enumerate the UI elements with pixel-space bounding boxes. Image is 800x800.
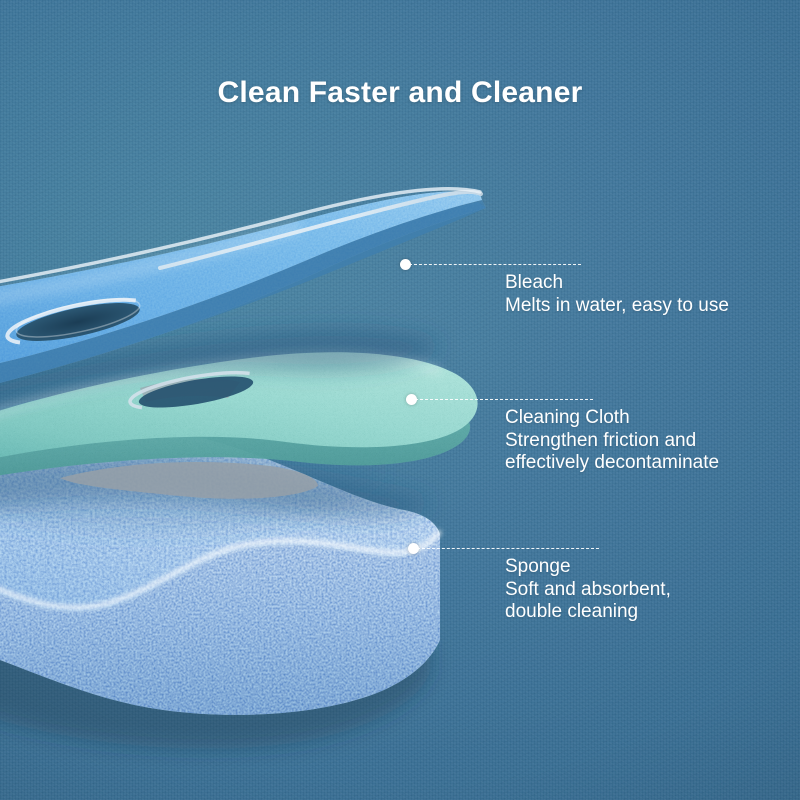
product-illustration — [0, 0, 800, 800]
callout-cleaning-cloth-heading: Cleaning Cloth — [505, 407, 719, 430]
callout-sponge-line-1: Soft and absorbent, — [505, 579, 671, 602]
callout-cleaning-cloth-line-2: effectively decontaminate — [505, 452, 719, 475]
callout-sponge-heading: Sponge — [505, 556, 671, 579]
callout-bleach-line-1: Melts in water, easy to use — [505, 295, 729, 318]
callout-sponge-line-2: double cleaning — [505, 601, 671, 624]
callout-cleaning-cloth-text: Cleaning Cloth Strengthen friction and e… — [505, 407, 719, 475]
leader-line — [417, 548, 599, 549]
leader-line — [415, 399, 593, 400]
callout-cleaning-cloth-line-1: Strengthen friction and — [505, 430, 719, 453]
callout-sponge-text: Sponge Soft and absorbent, double cleani… — [505, 556, 671, 624]
callout-bleach-heading: Bleach — [505, 272, 729, 295]
leader-line — [409, 264, 581, 265]
product-infographic: Clean Faster and Cleaner — [0, 0, 800, 800]
callout-bleach-text: Bleach Melts in water, easy to use — [505, 272, 729, 317]
